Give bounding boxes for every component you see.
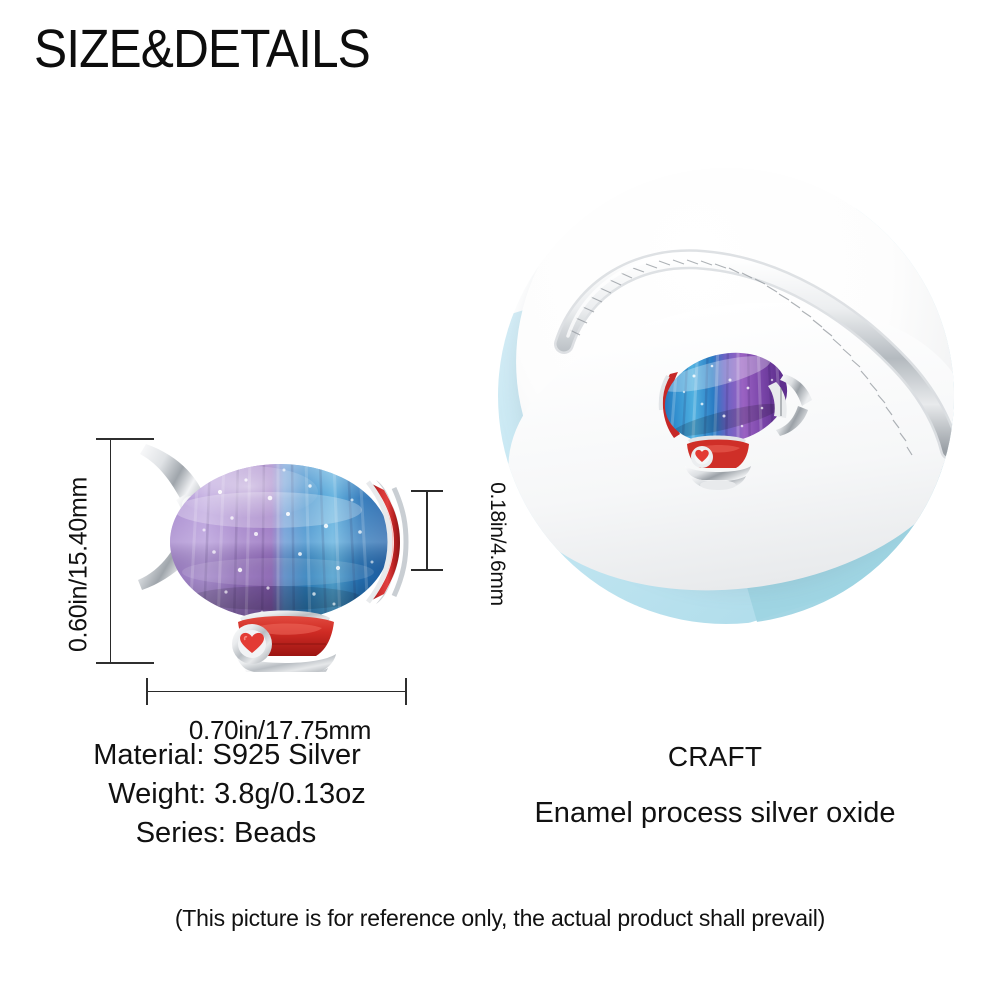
height-dimension-tick-bottom <box>96 662 154 664</box>
disclaimer-text: (This picture is for reference only, the… <box>0 905 1000 932</box>
product-image-airship-charm <box>128 422 428 672</box>
width-dimension-line <box>146 691 406 692</box>
charm-on-bracelet <box>655 340 812 490</box>
hole-dimension-tick-top <box>411 490 443 492</box>
spec-material: Material: S925 Silver <box>40 736 420 775</box>
charm-gondola <box>232 611 336 673</box>
width-dimension-tick-right <box>405 678 407 705</box>
spec-series: Series: Beads <box>40 814 420 853</box>
hole-dimension-tick-bottom <box>411 569 443 571</box>
width-dimension-tick-left <box>146 678 148 705</box>
spec-weight: Weight: 3.8g/0.13oz <box>40 775 420 814</box>
height-dimension-label: 0.60in/15.40mm <box>65 450 94 680</box>
dimensioned-product-panel: 0.60in/15.40mm 0.70in/17.75mm 0.18in/4.6… <box>0 150 500 620</box>
hole-dimension-line <box>426 491 428 571</box>
craft-title: CRAFT <box>470 740 960 774</box>
lifestyle-photo <box>498 168 954 624</box>
charm-body <box>170 456 390 626</box>
product-specs: Material: S925 Silver Weight: 3.8g/0.13o… <box>40 736 420 853</box>
page-title: SIZE&DETAILS <box>34 22 370 76</box>
charm-gondola-small <box>685 436 751 491</box>
craft-description: Enamel process silver oxide <box>470 796 960 831</box>
craft-info: CRAFT Enamel process silver oxide <box>470 740 960 830</box>
height-dimension-tick-top <box>96 438 154 440</box>
height-dimension-line <box>110 438 111 664</box>
